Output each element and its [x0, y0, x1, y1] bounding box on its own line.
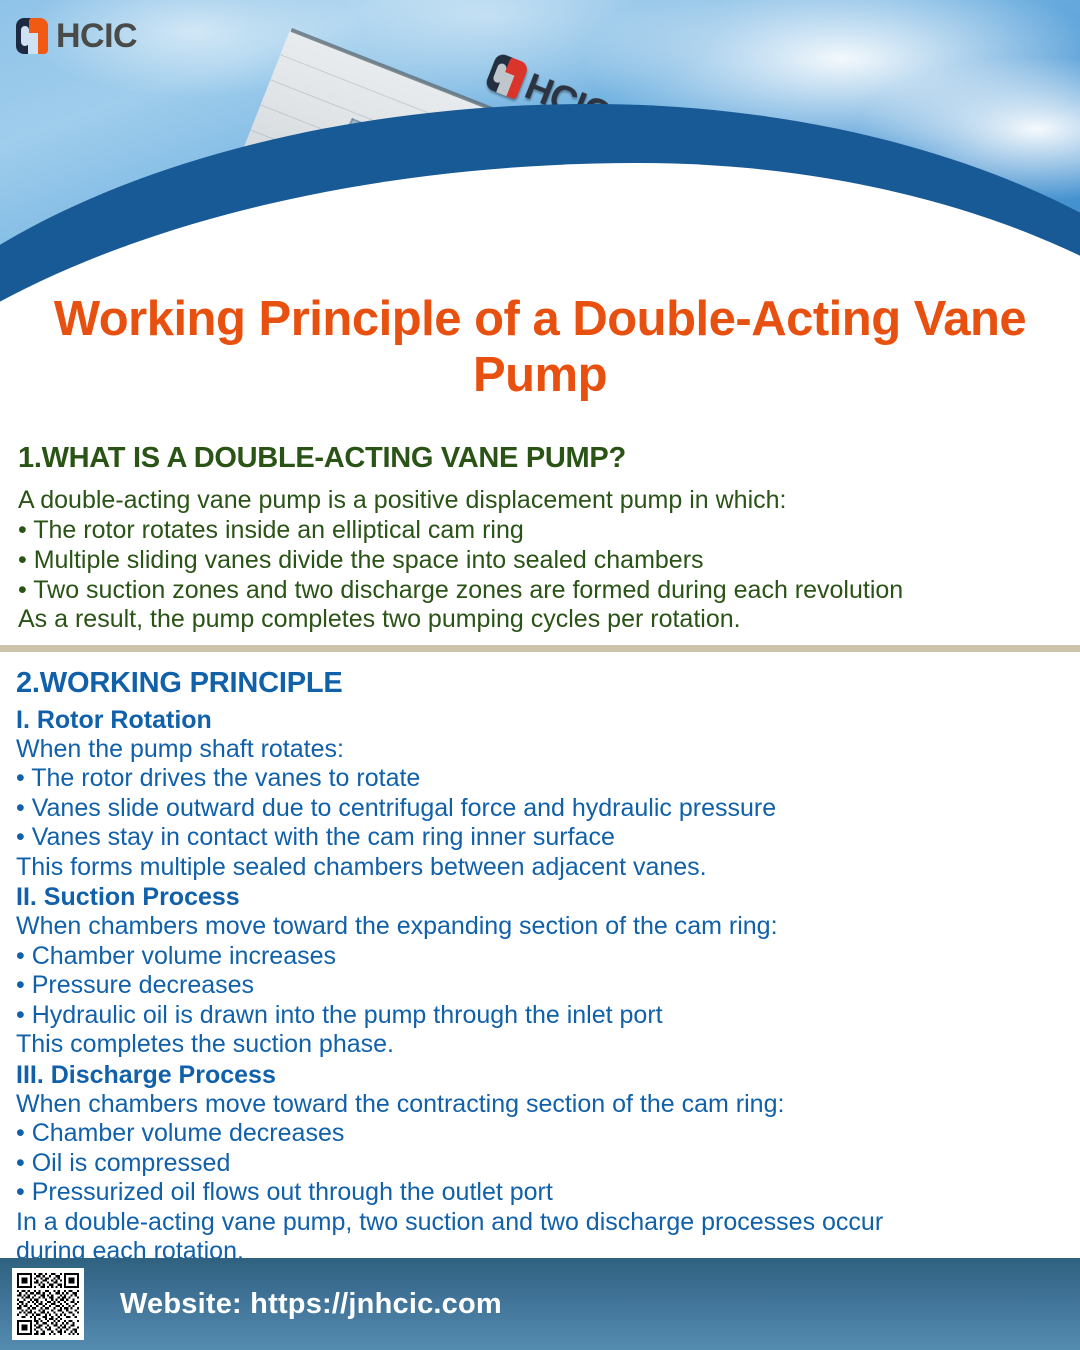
block3-intro: When chambers move toward the contractin… [16, 1090, 1072, 1120]
qr-code-icon[interactable] [12, 1268, 84, 1340]
block2-bullet-1: • Chamber volume increases [16, 942, 1072, 972]
website-link[interactable]: Website: https://jnhcic.com [120, 1288, 502, 1321]
block1-bullet-2: • Vanes slide outward due to centrifugal… [16, 794, 1072, 824]
hcic-logo-mark-icon [16, 18, 48, 54]
page-title: Working Principle of a Double-Acting Van… [40, 292, 1040, 404]
block1-bullet-1: • The rotor drives the vanes to rotate [16, 764, 1072, 794]
block2-bullet-2: • Pressure decreases [16, 971, 1072, 1001]
block3-closing: In a double-acting vane pump, two suctio… [16, 1208, 1072, 1238]
block2-closing: This completes the suction phase. [16, 1030, 1072, 1060]
section-what-is: 1.WHAT IS A DOUBLE-ACTING VANE PUMP? A d… [18, 442, 1068, 635]
section-divider [0, 645, 1080, 652]
hcic-logo: HCIC [16, 18, 137, 54]
block-rotor-rotation: I. Rotor Rotation When the pump shaft ro… [16, 705, 1072, 883]
section2-heading: 2.WORKING PRINCIPLE [16, 666, 1072, 701]
footer-bar: Website: https://jnhcic.com [0, 1258, 1080, 1350]
block1-bullet-3: • Vanes stay in contact with the cam rin… [16, 823, 1072, 853]
block3-bullet-2: • Oil is compressed [16, 1149, 1072, 1179]
block2-bullet-3: • Hydraulic oil is drawn into the pump t… [16, 1001, 1072, 1031]
section1-bullet-2: • Multiple sliding vanes divide the spac… [18, 546, 1068, 576]
hcic-logo-text: HCIC [56, 19, 137, 53]
qr-code-svg [17, 1273, 79, 1335]
section-working-principle: 2.WORKING PRINCIPLE I. Rotor Rotation Wh… [16, 666, 1072, 1267]
section1-bullet-3: • Two suction zones and two discharge zo… [18, 576, 1068, 606]
block3-subheading: III. Discharge Process [16, 1060, 1072, 1090]
block-discharge-process: III. Discharge Process When chambers mov… [16, 1060, 1072, 1267]
section1-body: A double-acting vane pump is a positive … [18, 486, 1068, 635]
section1-closing: As a result, the pump completes two pump… [18, 605, 1068, 635]
block-suction-process: II. Suction Process When chambers move t… [16, 882, 1072, 1060]
block1-closing: This forms multiple sealed chambers betw… [16, 853, 1072, 883]
block1-intro: When the pump shaft rotates: [16, 735, 1072, 765]
section1-heading: 1.WHAT IS A DOUBLE-ACTING VANE PUMP? [18, 442, 1068, 475]
section1-bullet-1: • The rotor rotates inside an elliptical… [18, 516, 1068, 546]
block3-bullet-3: • Pressurized oil flows out through the … [16, 1178, 1072, 1208]
section1-intro: A double-acting vane pump is a positive … [18, 486, 1068, 516]
poster-root: HCIC 华辰重科 HCIC Working Principle of a Do… [0, 0, 1080, 1350]
block2-subheading: II. Suction Process [16, 882, 1072, 912]
block1-subheading: I. Rotor Rotation [16, 705, 1072, 735]
block2-intro: When chambers move toward the expanding … [16, 912, 1072, 942]
block3-bullet-1: • Chamber volume decreases [16, 1119, 1072, 1149]
